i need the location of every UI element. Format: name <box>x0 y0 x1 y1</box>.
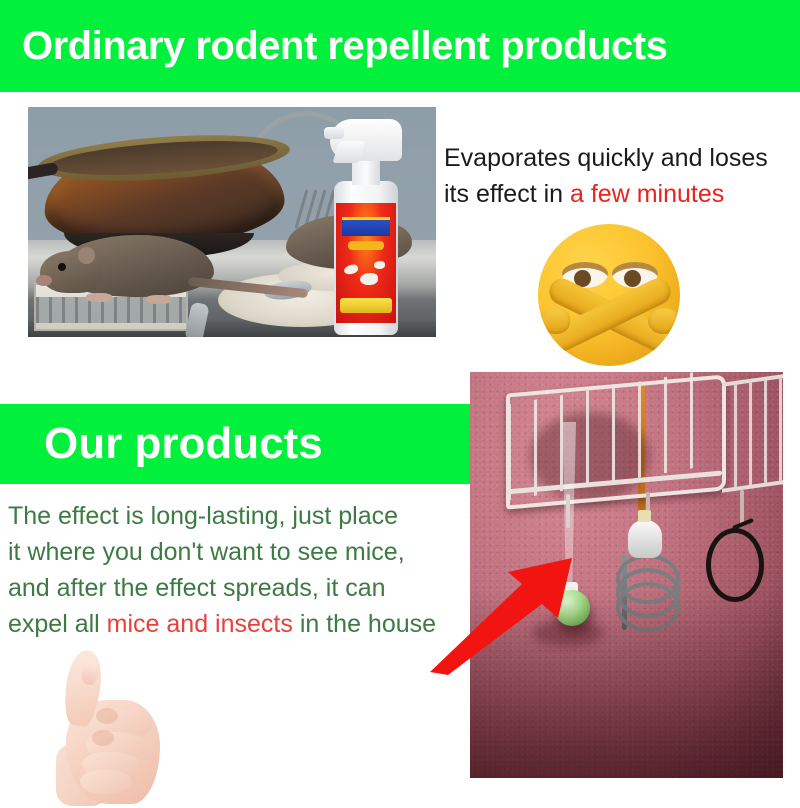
emoji-pupil-right <box>624 270 641 287</box>
rat-foot <box>86 293 112 302</box>
wall-shadow-gradient <box>470 591 783 778</box>
kitchen-rats-spray-photo <box>28 107 436 337</box>
wire-rack-side-basket <box>722 373 783 493</box>
rat-snout <box>36 275 52 286</box>
label-sub-band <box>348 241 384 250</box>
description-line-4-prefix: expel all <box>8 610 107 638</box>
face-with-crossed-arms-emoji <box>538 224 680 366</box>
caption-line-1: Evaporates quickly and loses <box>444 144 768 172</box>
description-line-2: it where you don't want to see mice, <box>8 538 405 566</box>
hand-little-finger <box>80 770 132 794</box>
top-banner-title: Ordinary rodent repellent products <box>0 26 667 66</box>
repellent-ball-in-use-photo <box>470 372 783 778</box>
hand-knuckle <box>96 708 118 724</box>
label-mouse-icon <box>343 264 359 276</box>
evaporates-caption: Evaporates quickly and loses its effect … <box>444 140 796 212</box>
caption-line-2-prefix: its effect in <box>444 180 570 208</box>
description-line-3: and after the effect spreads, it can <box>8 574 386 602</box>
description-line-1: The effect is long-lasting, just place <box>8 502 398 530</box>
label-brand-band <box>342 217 390 236</box>
caption-line-2-highlight: a few minutes <box>570 180 724 208</box>
label-ribbon <box>340 298 392 313</box>
thumb-nail <box>81 660 100 686</box>
rat-eye <box>58 263 66 271</box>
bottle-nozzle <box>324 127 344 139</box>
product-description: The effect is long-lasting, just place i… <box>8 498 460 642</box>
top-banner: Ordinary rodent repellent products <box>0 0 800 92</box>
heater-head <box>628 520 662 558</box>
description-line-4-highlight: mice and insects <box>107 610 293 638</box>
our-products-banner: Our products <box>0 404 470 484</box>
label-mouse-icon <box>374 261 385 269</box>
emoji-fist-left <box>540 308 570 334</box>
emoji-fist-right <box>648 308 678 334</box>
label-mouse-icon <box>360 273 378 285</box>
bottle-label <box>336 203 396 323</box>
thumbs-up-hand-photo <box>56 648 176 808</box>
heater-cap <box>638 510 651 522</box>
hook-right <box>740 490 744 524</box>
hand-knuckle <box>92 730 114 746</box>
rat-foot <box>146 295 172 304</box>
our-products-title: Our products <box>0 422 323 466</box>
description-line-4-suffix: in the house <box>293 610 436 638</box>
rat-ear <box>78 247 95 264</box>
spray-bottle <box>324 119 404 335</box>
